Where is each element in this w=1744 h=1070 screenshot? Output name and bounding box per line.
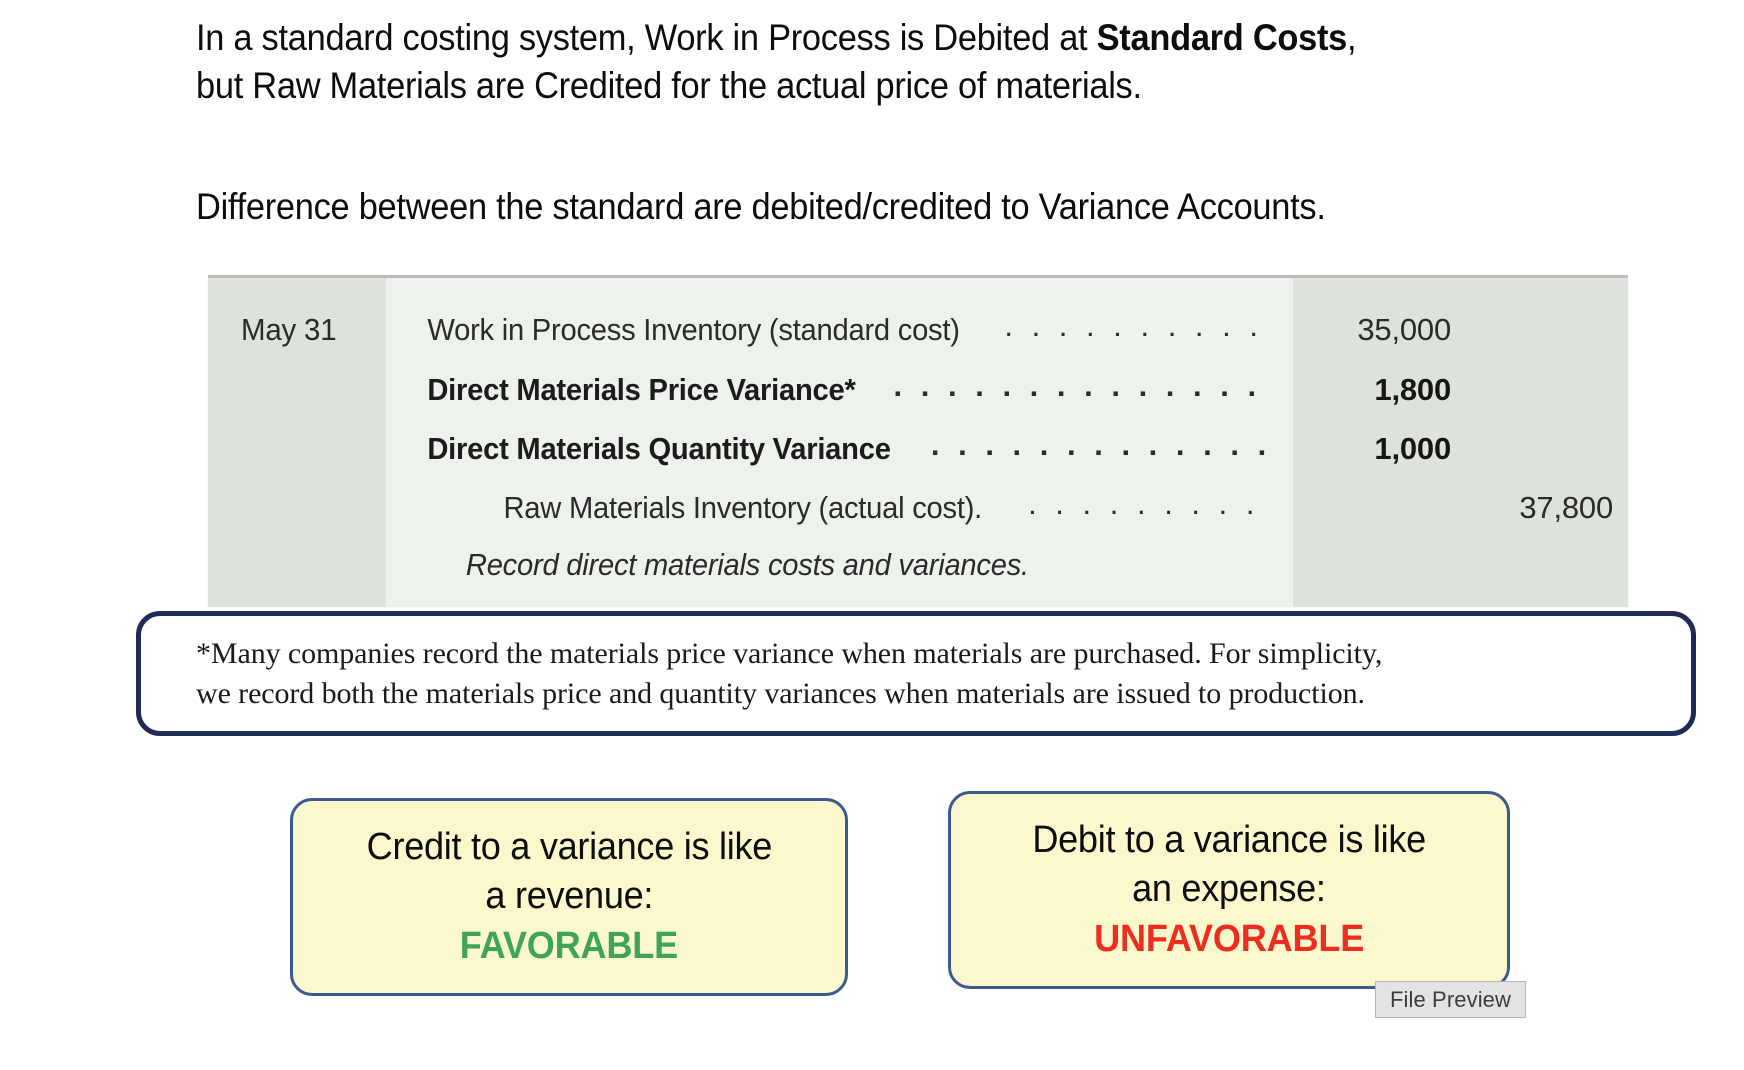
- journal-leader-dots: . . . . . . . . . . . . . .: [886, 368, 1293, 404]
- callout-unfavorable: Debit to a variance is like an expense: …: [948, 791, 1510, 989]
- intro-line1-bold: Standard Costs: [1097, 17, 1347, 58]
- journal-row: Raw Materials Inventory (actual cost). .…: [386, 478, 1293, 537]
- journal-date-column: May 31: [208, 278, 386, 607]
- file-preview-tooltip[interactable]: File Preview: [1375, 981, 1526, 1018]
- footnote-line-2: we record both the materials price and q…: [196, 674, 1636, 714]
- footnote-callout-box: *Many companies record the materials pri…: [136, 611, 1696, 736]
- journal-debit-amount: 35,000: [1311, 312, 1451, 348]
- callout-favorable-verdict: FAVORABLE: [460, 922, 678, 971]
- journal-amount-row: 37,800: [1293, 478, 1628, 537]
- journal-row: Direct Materials Price Variance* . . . .…: [386, 360, 1293, 419]
- journal-row: Record direct materials costs and varian…: [386, 535, 1293, 594]
- journal-credit-amount: 37,800: [1453, 490, 1613, 526]
- journal-amount-row: 35,000: [1293, 300, 1628, 359]
- callout-favorable: Credit to a variance is like a revenue: …: [290, 798, 848, 996]
- journal-account-column: Work in Process Inventory (standard cost…: [386, 278, 1293, 607]
- journal-row: Work in Process Inventory (standard cost…: [386, 300, 1293, 359]
- journal-entry-figure: May 31 Work in Process Inventory (standa…: [208, 275, 1628, 607]
- journal-entry-description: Record direct materials costs and varian…: [386, 547, 1029, 583]
- intro-paragraph-2: Difference between the standard are debi…: [196, 183, 1591, 231]
- journal-account-name: Work in Process Inventory (standard cost…: [386, 312, 960, 348]
- callout-unfavorable-line-1: Debit to a variance is like: [1032, 816, 1426, 865]
- file-preview-tooltip-label: File Preview: [1390, 987, 1511, 1013]
- journal-amount-row: 1,000: [1293, 419, 1628, 478]
- intro-line2: but Raw Materials are Credited for the a…: [196, 62, 1563, 110]
- journal-amount-row: 1,800: [1293, 360, 1628, 419]
- callout-unfavorable-line-2: an expense:: [1132, 865, 1326, 914]
- callout-unfavorable-verdict: UNFAVORABLE: [1094, 915, 1364, 964]
- journal-row: Direct Materials Quantity Variance . . .…: [386, 419, 1293, 478]
- footnote-line-1: *Many companies record the materials pri…: [196, 634, 1636, 674]
- journal-leader-dots: . . . . . . . . . . . . .: [923, 427, 1293, 463]
- journal-debit-amount: 1,800: [1311, 372, 1451, 408]
- journal-account-name: Direct Materials Quantity Variance: [386, 431, 891, 467]
- callout-favorable-line-1: Credit to a variance is like: [366, 823, 771, 872]
- journal-date: May 31: [241, 312, 336, 348]
- intro-paragraph-1: In a standard costing system, Work in Pr…: [196, 14, 1563, 110]
- intro-line1-post: ,: [1347, 17, 1356, 58]
- journal-amount-column: 35,000 1,800 1,000 37,800: [1293, 278, 1628, 607]
- journal-debit-amount: 1,000: [1311, 431, 1451, 467]
- journal-account-name: Direct Materials Price Variance*: [386, 372, 856, 408]
- journal-leader-dots: . . . . . . . . .: [1020, 486, 1293, 522]
- callout-favorable-line-2: a revenue:: [485, 872, 653, 921]
- journal-leader-dots: . . . . . . . . . .: [996, 308, 1293, 344]
- intro-line1-pre: In a standard costing system, Work in Pr…: [196, 17, 1097, 58]
- journal-account-name: Raw Materials Inventory (actual cost).: [386, 490, 982, 526]
